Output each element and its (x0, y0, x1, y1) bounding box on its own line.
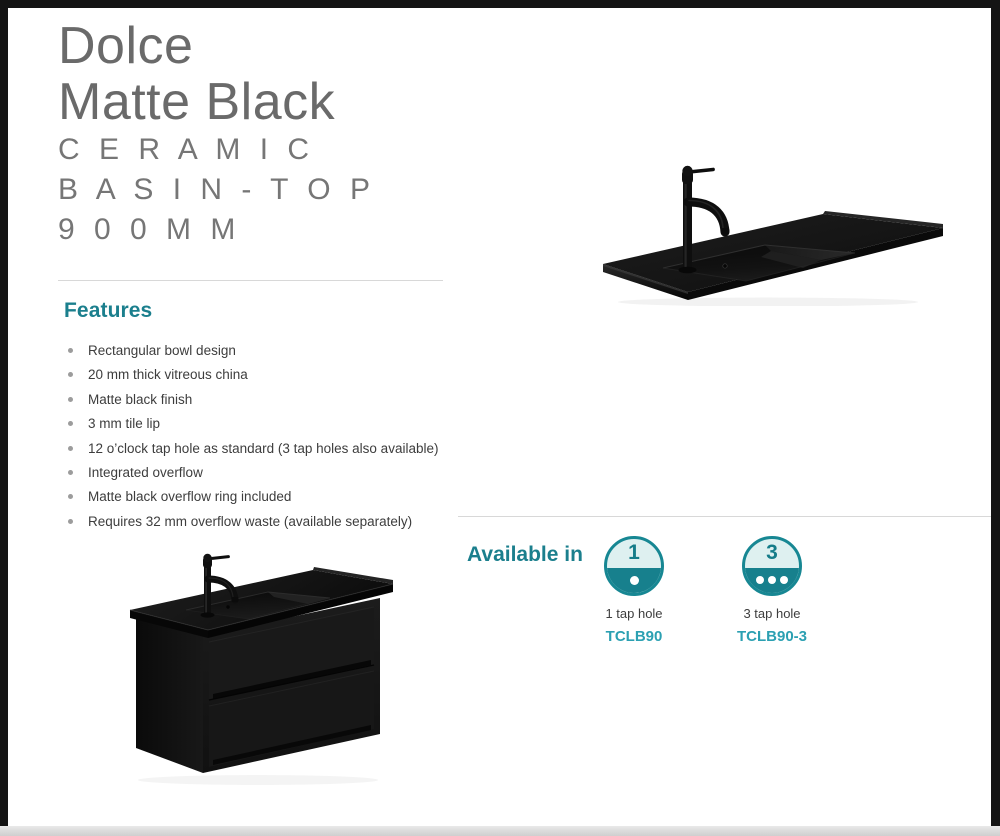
tap-hole-badge-number: 3 (745, 540, 799, 566)
bullet-icon (68, 519, 73, 524)
bullet-icon (68, 397, 73, 402)
feature-item: Rectangular bowl design (66, 339, 466, 363)
feature-item-label: 20 mm thick vitreous china (88, 367, 248, 382)
divider-above-available (458, 516, 991, 517)
page-canvas: Dolce Matte Black C E R A M I C B A S I … (8, 8, 991, 826)
divider-above-features (58, 280, 443, 281)
product-title-line-1: Dolce (58, 18, 478, 74)
feature-item-label: Rectangular bowl design (88, 343, 236, 358)
variant-product-code[interactable]: TCLB90 (606, 628, 663, 645)
feature-item: 20 mm thick vitreous china (66, 363, 466, 387)
bullet-icon (68, 348, 73, 353)
product-image-vanity-unit (108, 548, 413, 788)
variant-product-code[interactable]: TCLB90-3 (737, 628, 807, 645)
feature-item: 3 mm tile lip (66, 412, 466, 436)
variant-label: 1 tap hole (605, 606, 662, 621)
bullet-icon (68, 470, 73, 475)
bullet-icon (68, 372, 73, 377)
page-title: Dolce Matte Black C E R A M I C B A S I … (58, 18, 478, 250)
product-subtitle-line-3: 9 0 0 M M (58, 210, 478, 250)
feature-item: Matte black overflow ring included (66, 485, 466, 509)
product-title-line-2: Matte Black (58, 74, 478, 130)
variant-option-1-tap-hole[interactable]: 1 1 tap hole TCLB90 (598, 536, 670, 645)
tap-hole-badge-basin (607, 568, 661, 593)
frame-border-left (0, 0, 8, 836)
features-heading: Features (64, 299, 152, 323)
variant-option-3-tap-hole[interactable]: 3 3 tap hole TCLB90-3 (736, 536, 808, 645)
feature-item-label: Matte black finish (88, 392, 192, 407)
tap-hole-badge-basin (745, 568, 799, 593)
product-subtitle-line-1: C E R A M I C (58, 130, 478, 170)
feature-item-label: Matte black overflow ring included (88, 489, 291, 504)
feature-item-label: 12 o’clock tap hole as standard (3 tap h… (88, 441, 438, 456)
bullet-icon (68, 421, 73, 426)
frame-border-top (0, 0, 1000, 8)
tap-hole-badge-number: 1 (607, 540, 661, 566)
tap-hole-badge-icon: 3 (742, 536, 802, 596)
bullet-icon (68, 446, 73, 451)
feature-item-label: Integrated overflow (88, 465, 203, 480)
variant-options: 1 1 tap hole TCLB90 3 3 tap (598, 536, 808, 645)
product-subtitle-line-2: B A S I N - T O P (58, 170, 478, 210)
tap-hole-dot-icon (768, 576, 776, 584)
tap-hole-dot-icon (756, 576, 764, 584)
product-datasheet-page: Dolce Matte Black C E R A M I C B A S I … (0, 0, 1000, 836)
available-in-heading: Available in (467, 543, 583, 567)
feature-item: Integrated overflow (66, 461, 466, 485)
features-list: Rectangular bowl design 20 mm thick vitr… (66, 339, 466, 534)
feature-item-label: Requires 32 mm overflow waste (available… (88, 514, 412, 529)
frame-border-right (991, 0, 1000, 836)
feature-item: Matte black finish (66, 388, 466, 412)
tap-hole-dot-icon (780, 576, 788, 584)
bullet-icon (68, 494, 73, 499)
tap-hole-dot-icon (630, 576, 639, 585)
frame-border-bottom (0, 826, 1000, 836)
feature-item-label: 3 mm tile lip (88, 416, 160, 431)
feature-item: Requires 32 mm overflow waste (available… (66, 510, 466, 534)
variant-label: 3 tap hole (743, 606, 800, 621)
feature-item: 12 o’clock tap hole as standard (3 tap h… (66, 437, 466, 461)
tap-hole-badge-icon: 1 (604, 536, 664, 596)
hero-product-image-basin-top (503, 156, 943, 306)
